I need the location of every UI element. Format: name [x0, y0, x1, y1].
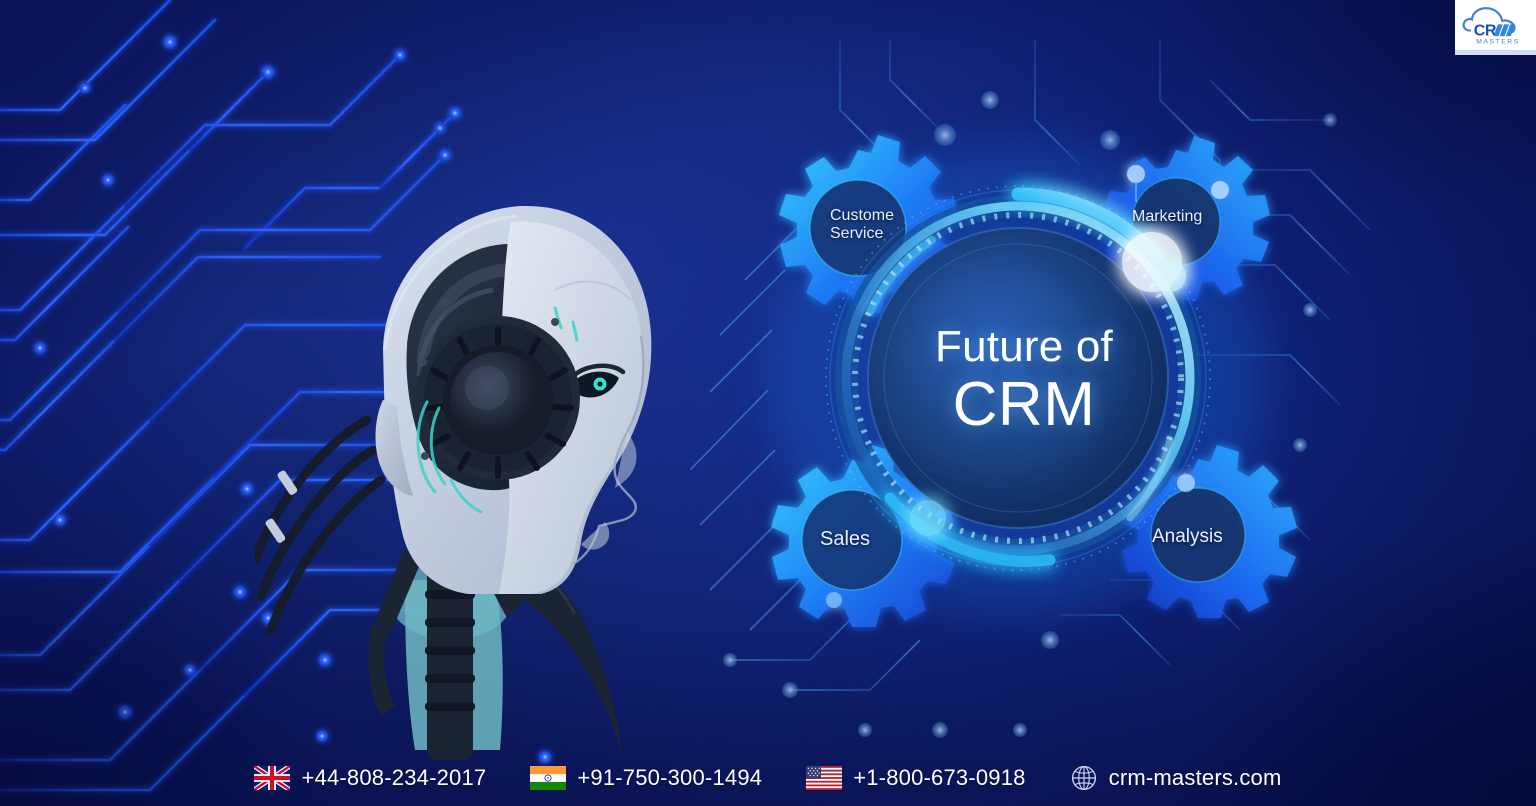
contact-india-phone: +91-750-300-1494	[577, 765, 762, 791]
crm-banner: Custome Service Marketing Sales Analysis…	[0, 0, 1536, 806]
logo-sub-brand-text: MASTERS	[1476, 38, 1520, 45]
uk-flag-icon	[254, 766, 290, 790]
footer-contact-bar: +44-808-234-2017 +91-750-300-1494	[0, 750, 1536, 806]
usa-flag-icon	[806, 766, 842, 790]
logo[interactable]: C R MASTERS	[1455, 0, 1536, 50]
contact-india[interactable]: +91-750-300-1494	[530, 765, 762, 791]
crm-masters-logo-icon: C R MASTERS	[1459, 2, 1533, 48]
contact-website-url: crm-masters.com	[1109, 765, 1282, 791]
contact-uk-phone: +44-808-234-2017	[301, 765, 486, 791]
globe-icon	[1070, 764, 1098, 792]
logo-underline	[1455, 50, 1536, 55]
contact-usa-phone: +1-800-673-0918	[853, 765, 1025, 791]
contact-uk[interactable]: +44-808-234-2017	[254, 765, 486, 791]
contact-website[interactable]: crm-masters.com	[1070, 764, 1282, 792]
logo-brand-text: C	[1473, 21, 1485, 39]
svg-text:R: R	[1484, 21, 1496, 39]
background-corner-shadow	[0, 0, 1536, 806]
contact-usa[interactable]: +1-800-673-0918	[806, 765, 1025, 791]
india-flag-icon	[530, 766, 566, 790]
